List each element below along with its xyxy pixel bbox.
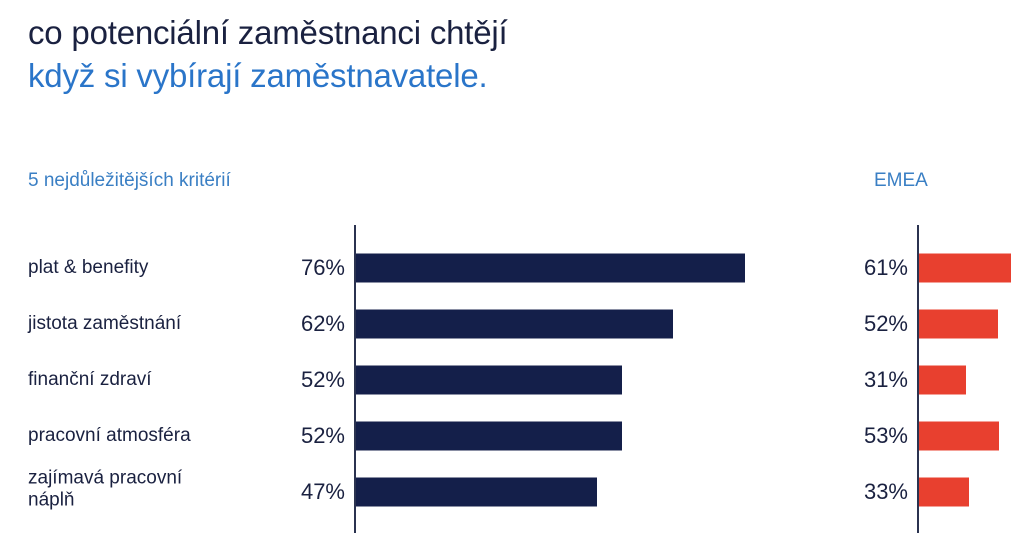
row-value-right: 31%: [818, 367, 908, 393]
row-label: zajímavá pracovní náplň: [28, 467, 278, 512]
row-value-left: 52%: [255, 367, 345, 393]
row-label-text-line2: náplň: [28, 490, 75, 511]
row-label-text: plat & benefity: [28, 257, 148, 278]
row-label-text: zajímavá pracovní: [28, 467, 182, 488]
row-value-right: 52%: [818, 311, 908, 337]
bar-left: [356, 310, 673, 339]
row-value-right: 53%: [818, 423, 908, 449]
bar-right: [919, 254, 1011, 283]
row-label: plat & benefity: [28, 257, 278, 279]
row-label-text: pracovní atmosféra: [28, 425, 191, 446]
row-label: jistota zaměstnání: [28, 313, 278, 335]
bar-right: [919, 366, 966, 395]
row-value-left: 52%: [255, 423, 345, 449]
bar-chart: plat & benefity 76% 61% jistota zaměstná…: [0, 0, 1024, 545]
row-value-left: 62%: [255, 311, 345, 337]
bar-right: [919, 478, 969, 507]
table-row: plat & benefity 76% 61%: [0, 240, 1024, 296]
row-label: finanční zdraví: [28, 369, 278, 391]
row-label-text: finanční zdraví: [28, 369, 152, 390]
table-row: jistota zaměstnání 62% 52%: [0, 296, 1024, 352]
row-value-right: 61%: [818, 255, 908, 281]
bar-left: [356, 254, 745, 283]
row-value-left: 76%: [255, 255, 345, 281]
row-value-right: 33%: [818, 479, 908, 505]
row-label: pracovní atmosféra: [28, 425, 278, 447]
bar-left: [356, 478, 597, 507]
table-row: finanční zdraví 52% 31%: [0, 352, 1024, 408]
bar-left: [356, 422, 622, 451]
bar-right: [919, 310, 998, 339]
row-value-left: 47%: [255, 479, 345, 505]
bar-left: [356, 366, 622, 395]
row-label-text: jistota zaměstnání: [28, 313, 181, 334]
table-row: pracovní atmosféra 52% 53%: [0, 408, 1024, 464]
table-row: zajímavá pracovní náplň 47% 33%: [0, 464, 1024, 520]
bar-right: [919, 422, 999, 451]
